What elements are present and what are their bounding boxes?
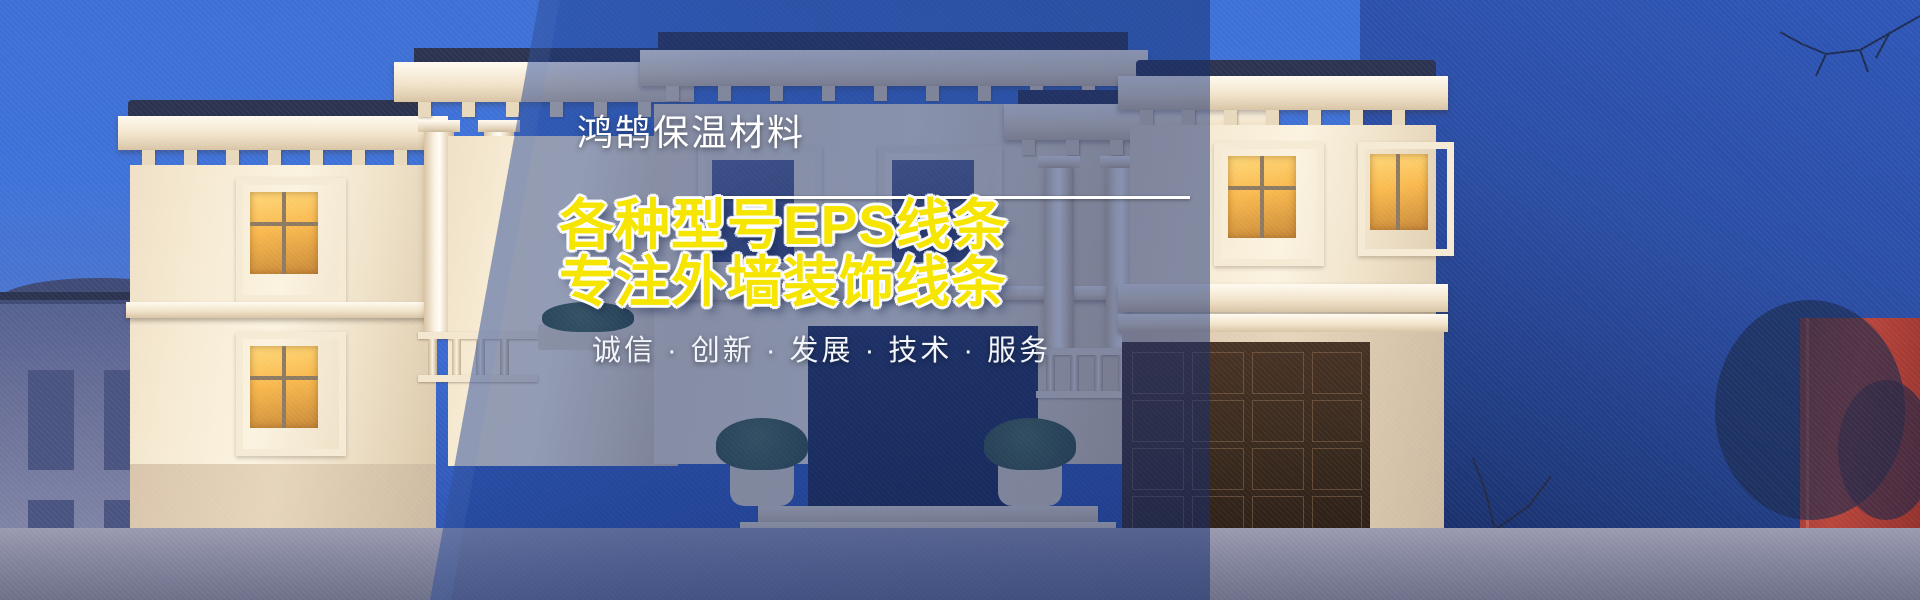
headline-line-2: 专注外墙装饰线条 (559, 255, 1007, 310)
promo-banner: 鸿鹄保温材料 各种型号EPS线条 专注外墙装饰线条 诚信 · 创新 · 发展 ·… (0, 0, 1920, 600)
background-tree (1690, 290, 1920, 530)
bare-branch-tree (1740, 10, 1920, 180)
headline-line-1: 各种型号EPS线条 (559, 198, 1008, 253)
tagline: 诚信 · 创新 · 发展 · 技术 · 服务 (592, 327, 1051, 369)
brand-name: 鸿鹄保温材料 (577, 104, 805, 156)
banner-content: 鸿鹄保温材料 各种型号EPS线条 专注外墙装饰线条 诚信 · 创新 · 发展 ·… (560, 0, 1260, 600)
